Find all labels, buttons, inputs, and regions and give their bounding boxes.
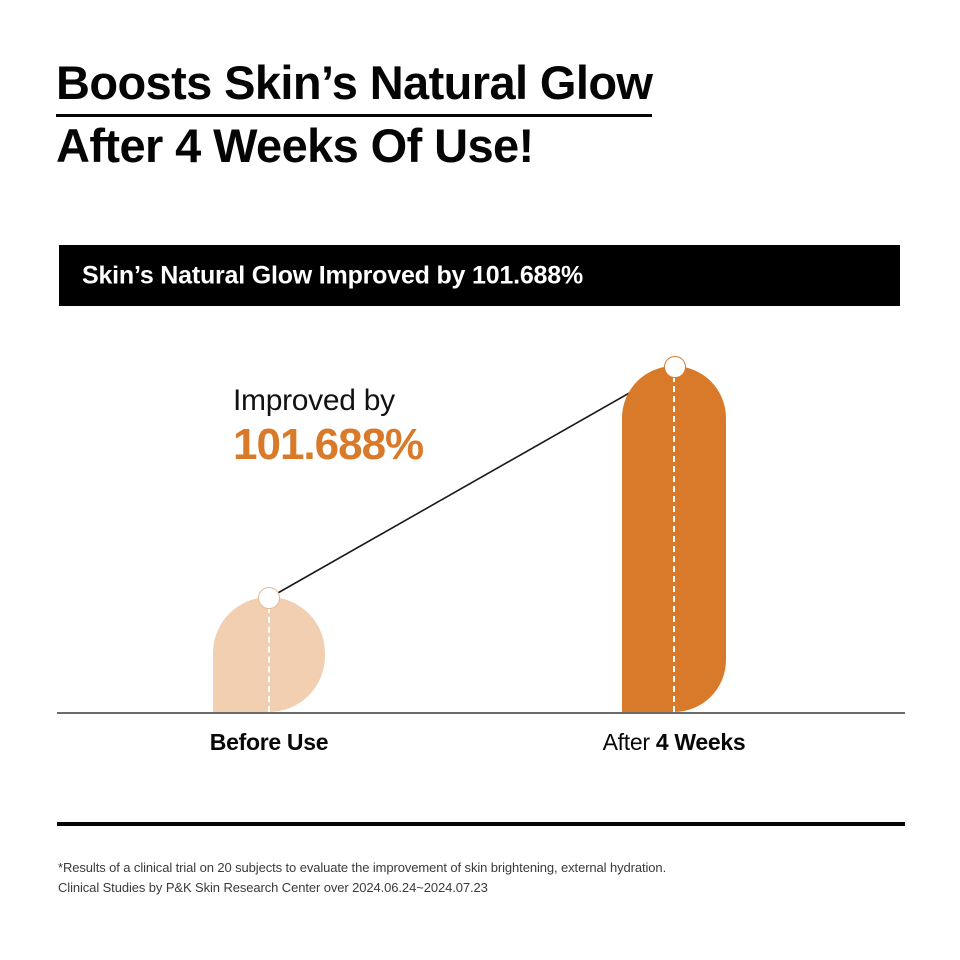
bar-before-center-dash: [268, 597, 270, 712]
bar-before-use: [213, 597, 325, 712]
improvement-value: 101.688%: [233, 419, 423, 471]
improvement-annotation: Improved by 101.688%: [233, 383, 423, 471]
x-axis-line: [57, 712, 905, 714]
infographic-page: Boosts Skin’s Natural Glow After 4 Weeks…: [0, 0, 960, 960]
x-axis-label-before: Before Use: [194, 729, 344, 756]
data-point-marker-before: [258, 587, 280, 609]
footnote: *Results of a clinical trial on 20 subje…: [58, 858, 878, 898]
x-axis-label-after-strong: 4 Weeks: [656, 729, 746, 755]
footnote-line-2: Clinical Studies by P&K Skin Research Ce…: [58, 878, 878, 898]
footnote-line-1: *Results of a clinical trial on 20 subje…: [58, 858, 878, 878]
x-axis-label-after: After 4 Weeks: [578, 729, 770, 756]
footer-divider: [57, 822, 905, 826]
connector-line: [0, 0, 960, 960]
bar-after-4-weeks: [622, 366, 726, 712]
data-point-marker-after: [664, 356, 686, 378]
bar-chart: Improved by 101.688% Before Use After 4 …: [0, 0, 960, 960]
x-axis-label-after-prefix: After: [603, 729, 656, 755]
improvement-label: Improved by: [233, 383, 423, 419]
bar-after-center-dash: [673, 366, 675, 712]
